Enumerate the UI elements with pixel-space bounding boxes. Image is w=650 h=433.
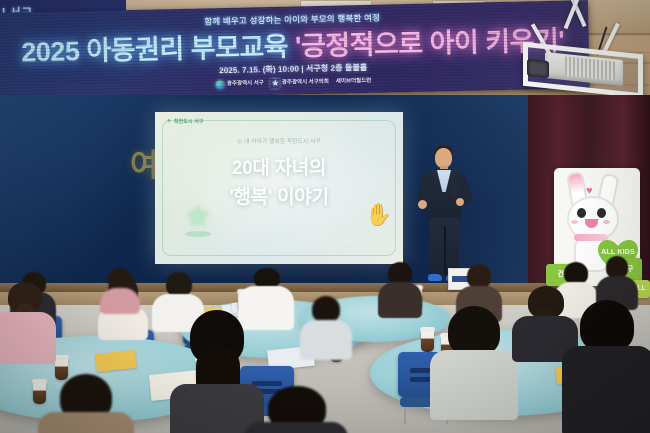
logo-gwangju-seogu: 광주광역시 서구 [216,79,264,89]
bullet-icon [237,139,242,144]
logo-label: 광주광역시 서구 [227,81,264,88]
audience-person [566,300,650,433]
projector-lens [527,59,549,78]
audience-person [244,386,348,433]
rabbit-right-eye [597,208,606,218]
slide-logo-label: 착한도시 서구 [174,118,204,125]
speaker-left-hand [418,200,427,209]
logo-label: 광주광역시 서구의회 [282,79,329,86]
slide-corner-logo: ✦ 착한도시 서구 [166,118,204,125]
rabbit-left-eye [577,208,586,218]
slide-presenter: Presented by 김이강 [323,235,381,244]
speaker-head [435,148,452,168]
speaker-leg-split [444,226,446,274]
ceiling-projector-assembly [505,0,650,101]
rabbit-left-cheek [571,220,578,224]
slide-heading-line1: 20대 자녀의 [155,153,403,180]
star-icon: ★ [271,79,280,88]
led-banner: 함께 배우고 성장하는 아이와 부모의 행복한 여정 2025 아동권리 부모교… [0,0,590,101]
speaker-left-shoe [428,274,442,281]
photo-scene: l 서구 함께 배우고 성장하는 아이와 부모의 행복한 여정 2025 아동권… [0,0,650,433]
star-character-icon: ★ [181,202,215,236]
logo-label: 세이브더칠드런 [336,78,372,85]
audience-person [430,306,518,426]
speaker-right-hand [456,198,464,206]
audience-person [0,282,56,362]
projection-screen: ✦ 착한도시 서구 내 아이가 행복한 착한도시 서구 20대 자녀의 '행복'… [155,112,403,264]
rabbit-right-cheek [603,220,610,224]
emblem-icon [216,80,225,89]
audience-person [378,262,422,318]
leaf-icon: ✦ [166,118,172,125]
logo-seogu-council: ★ 광주광역시 서구의회 [271,78,329,88]
audience-person [300,296,352,358]
slide-eyebrow-text: 내 아이가 행복한 착한도시 서구 [244,139,321,145]
audience-person [38,374,134,433]
hand-icon: ✋ [365,204,391,230]
logo-save-the-children: 세이브더칠드런 [336,78,372,85]
audience-person [100,268,140,312]
slide-eyebrow: 내 아이가 행복한 착한도시 서구 [155,137,403,145]
heart-label: ALL KIDS [598,249,638,256]
banner-title-main: 2025 아동권리 부모교육 [21,32,288,68]
